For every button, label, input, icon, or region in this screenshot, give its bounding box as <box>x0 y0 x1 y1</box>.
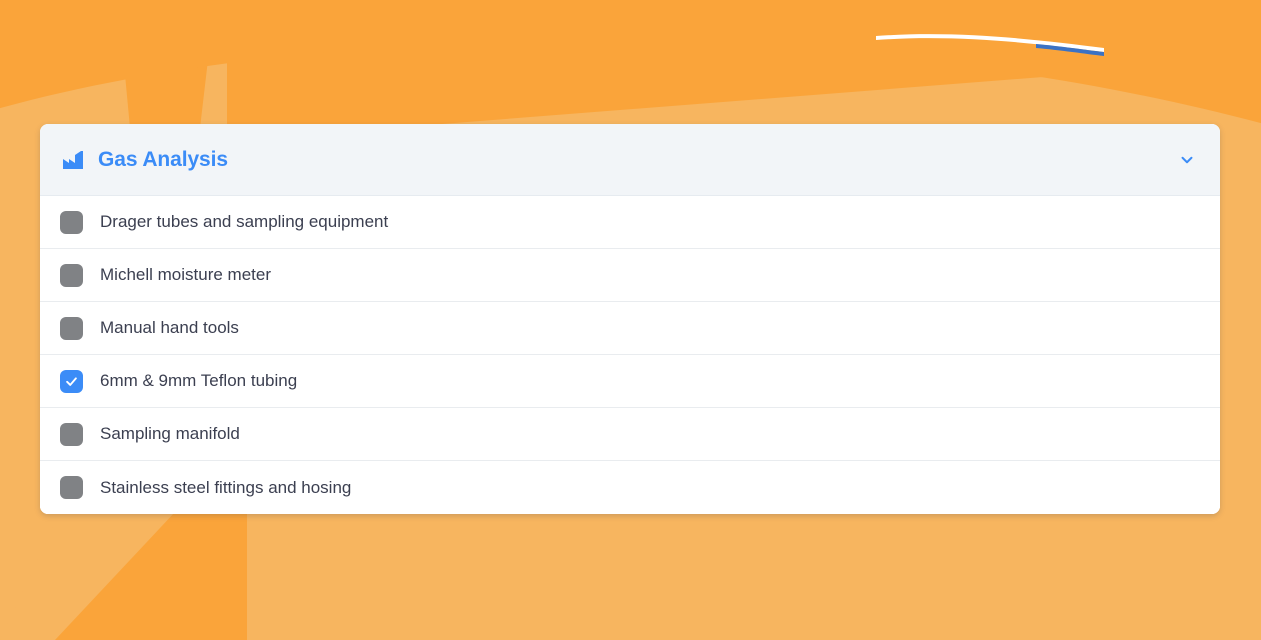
gas-analysis-card: Gas Analysis Drager tubes and sampling e… <box>40 124 1220 514</box>
list-item[interactable]: Stainless steel fittings and hosing <box>40 461 1220 514</box>
checkbox-2[interactable] <box>60 317 83 340</box>
list-item-label: Manual hand tools <box>100 318 239 338</box>
list-item[interactable]: Michell moisture meter <box>40 249 1220 302</box>
checkbox-0[interactable] <box>60 211 83 234</box>
list-item-label: Drager tubes and sampling equipment <box>100 212 388 232</box>
list-item[interactable]: Drager tubes and sampling equipment <box>40 196 1220 249</box>
list-item-label: 6mm & 9mm Teflon tubing <box>100 371 297 391</box>
list-item-label: Michell moisture meter <box>100 265 271 285</box>
list-item[interactable]: 6mm & 9mm Teflon tubing <box>40 355 1220 408</box>
list-item[interactable]: Sampling manifold <box>40 408 1220 461</box>
checkbox-4[interactable] <box>60 423 83 446</box>
list-item-label: Sampling manifold <box>100 424 240 444</box>
checkbox-1[interactable] <box>60 264 83 287</box>
list-item-label: Stainless steel fittings and hosing <box>100 478 351 498</box>
checkbox-5[interactable] <box>60 476 83 499</box>
factory-icon <box>60 147 86 173</box>
equipment-list: Drager tubes and sampling equipment Mich… <box>40 196 1220 514</box>
page-title: Gas Analysis <box>98 148 1176 172</box>
chevron-down-icon[interactable] <box>1176 149 1198 171</box>
list-item[interactable]: Manual hand tools <box>40 302 1220 355</box>
checkbox-3[interactable] <box>60 370 83 393</box>
card-header[interactable]: Gas Analysis <box>40 124 1220 196</box>
